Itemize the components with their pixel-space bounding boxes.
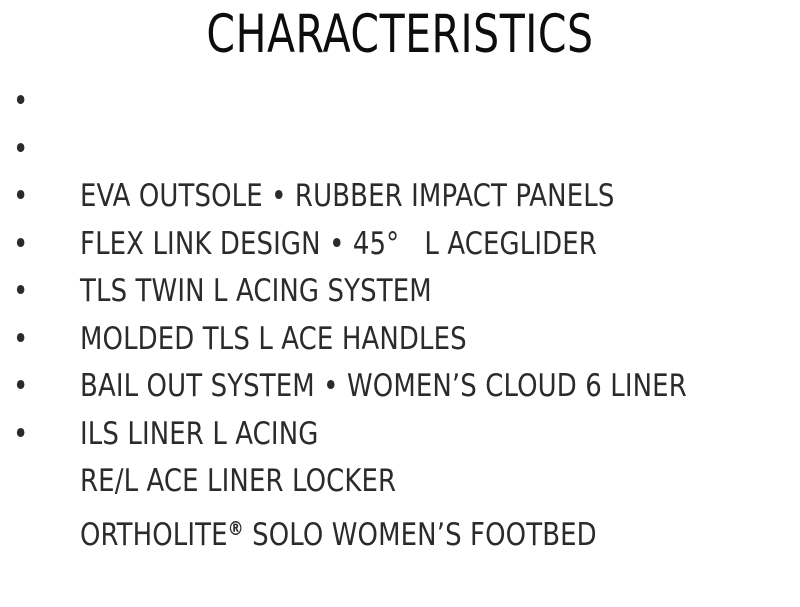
bullet-icon: • (13, 221, 24, 269)
list-item: • BAIL OUT SYSTEM • WOMEN’S CLOUD 6 LINE… (0, 268, 744, 316)
registered-trademark-icon: ® (228, 518, 244, 541)
bullet-icon: • (13, 78, 24, 126)
bullet-icon: • (13, 126, 24, 174)
characteristics-panel: CHARACTERISTICS • EVA OUTSOLE • RUBBER I… (0, 0, 800, 484)
page-title: CHARACTERISTICS (56, 0, 744, 70)
bullet-icon: • (13, 316, 24, 364)
bullet-icon: • (13, 173, 24, 221)
list-item-label-tail: SOLO WOMEN’S FOOTBED (244, 517, 597, 553)
list-item: • EVA OUTSOLE • RUBBER IMPACT PANELS (0, 78, 744, 126)
list-item-label: ORTHOLITE® SOLO WOMEN’S FOOTBED (80, 517, 597, 553)
list-item-label: RE/L ACE LINER LOCKER (80, 463, 396, 499)
characteristics-list: • EVA OUTSOLE • RUBBER IMPACT PANELS • F… (0, 78, 800, 458)
list-item: • FLEX LINK DESIGN • 45° L ACEGLIDER (0, 126, 744, 174)
list-item: • ORTHOLITE® SOLO WOMEN’S FOOTBED (0, 411, 744, 459)
list-item: • RE/L ACE LINER LOCKER (0, 363, 744, 411)
brand-name: ORTHOLITE (80, 517, 228, 553)
list-item: • MOLDED TLS L ACE HANDLES (0, 221, 744, 269)
list-item: • TLS TWIN L ACING SYSTEM (0, 173, 744, 221)
bullet-icon: • (13, 363, 24, 411)
bullet-icon: • (13, 268, 24, 316)
bullet-icon: • (13, 411, 24, 459)
list-item: • ILS LINER L ACING (0, 316, 744, 364)
